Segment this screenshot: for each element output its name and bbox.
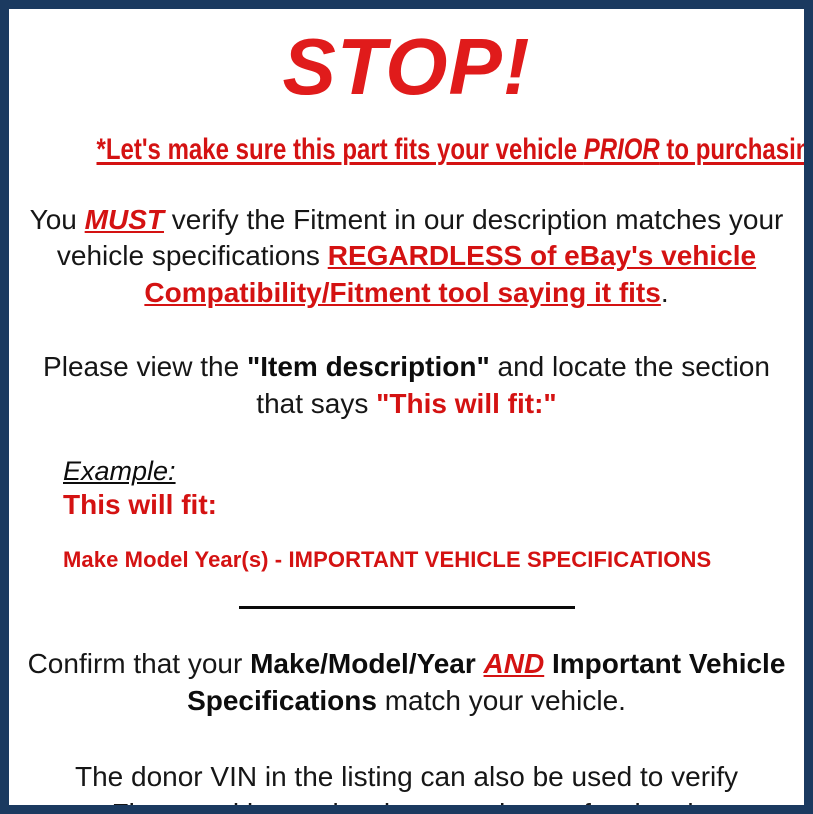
must-text-lead: You [30, 204, 85, 235]
subhead-lead-text: *Let's make sure this part fits your veh… [97, 133, 584, 166]
subhead-banner: *Let's make sure this part fits your veh… [97, 133, 717, 166]
make-model-year-emphasis: Make/Model/Year [250, 648, 476, 679]
horizontal-rule [239, 606, 575, 609]
item-description-paragraph: Please view the "Item description" and l… [19, 349, 794, 422]
donor-vin-paragraph: The donor VIN in the listing can also be… [19, 759, 794, 814]
page-title: STOP! [19, 27, 794, 107]
must-text-period: . [661, 277, 669, 308]
confirm-paragraph: Confirm that your Make/Model/Year AND Im… [19, 646, 794, 719]
this-will-fit-quote: "This will fit:" [376, 388, 557, 419]
must-emphasis: MUST [85, 204, 164, 235]
confirm-text-tail: match your vehicle. [377, 685, 626, 716]
divider [19, 598, 794, 616]
must-verify-paragraph: You MUST verify the Fitment in our descr… [19, 202, 794, 311]
and-emphasis: AND [484, 648, 545, 679]
example-label: Example: [63, 456, 176, 487]
example-spec-line: Make Model Year(s) - IMPORTANT VEHICLE S… [63, 547, 794, 572]
fitment-notice-card: STOP! *Let's make sure this part fits yo… [0, 0, 813, 814]
example-fit-heading: This will fit: [63, 489, 794, 521]
subhead-tail-text: to purchasing* [660, 133, 813, 166]
subhead-emphasis-prior: PRIOR [584, 133, 660, 166]
notice-content: STOP! *Let's make sure this part fits yo… [9, 9, 804, 805]
item-description-label: "Item description" [247, 351, 490, 382]
example-block: Example: This will fit: Make Model Year(… [19, 456, 794, 573]
confirm-text-lead: Confirm that your [28, 648, 251, 679]
itemdesc-text-lead: Please view the [43, 351, 247, 382]
